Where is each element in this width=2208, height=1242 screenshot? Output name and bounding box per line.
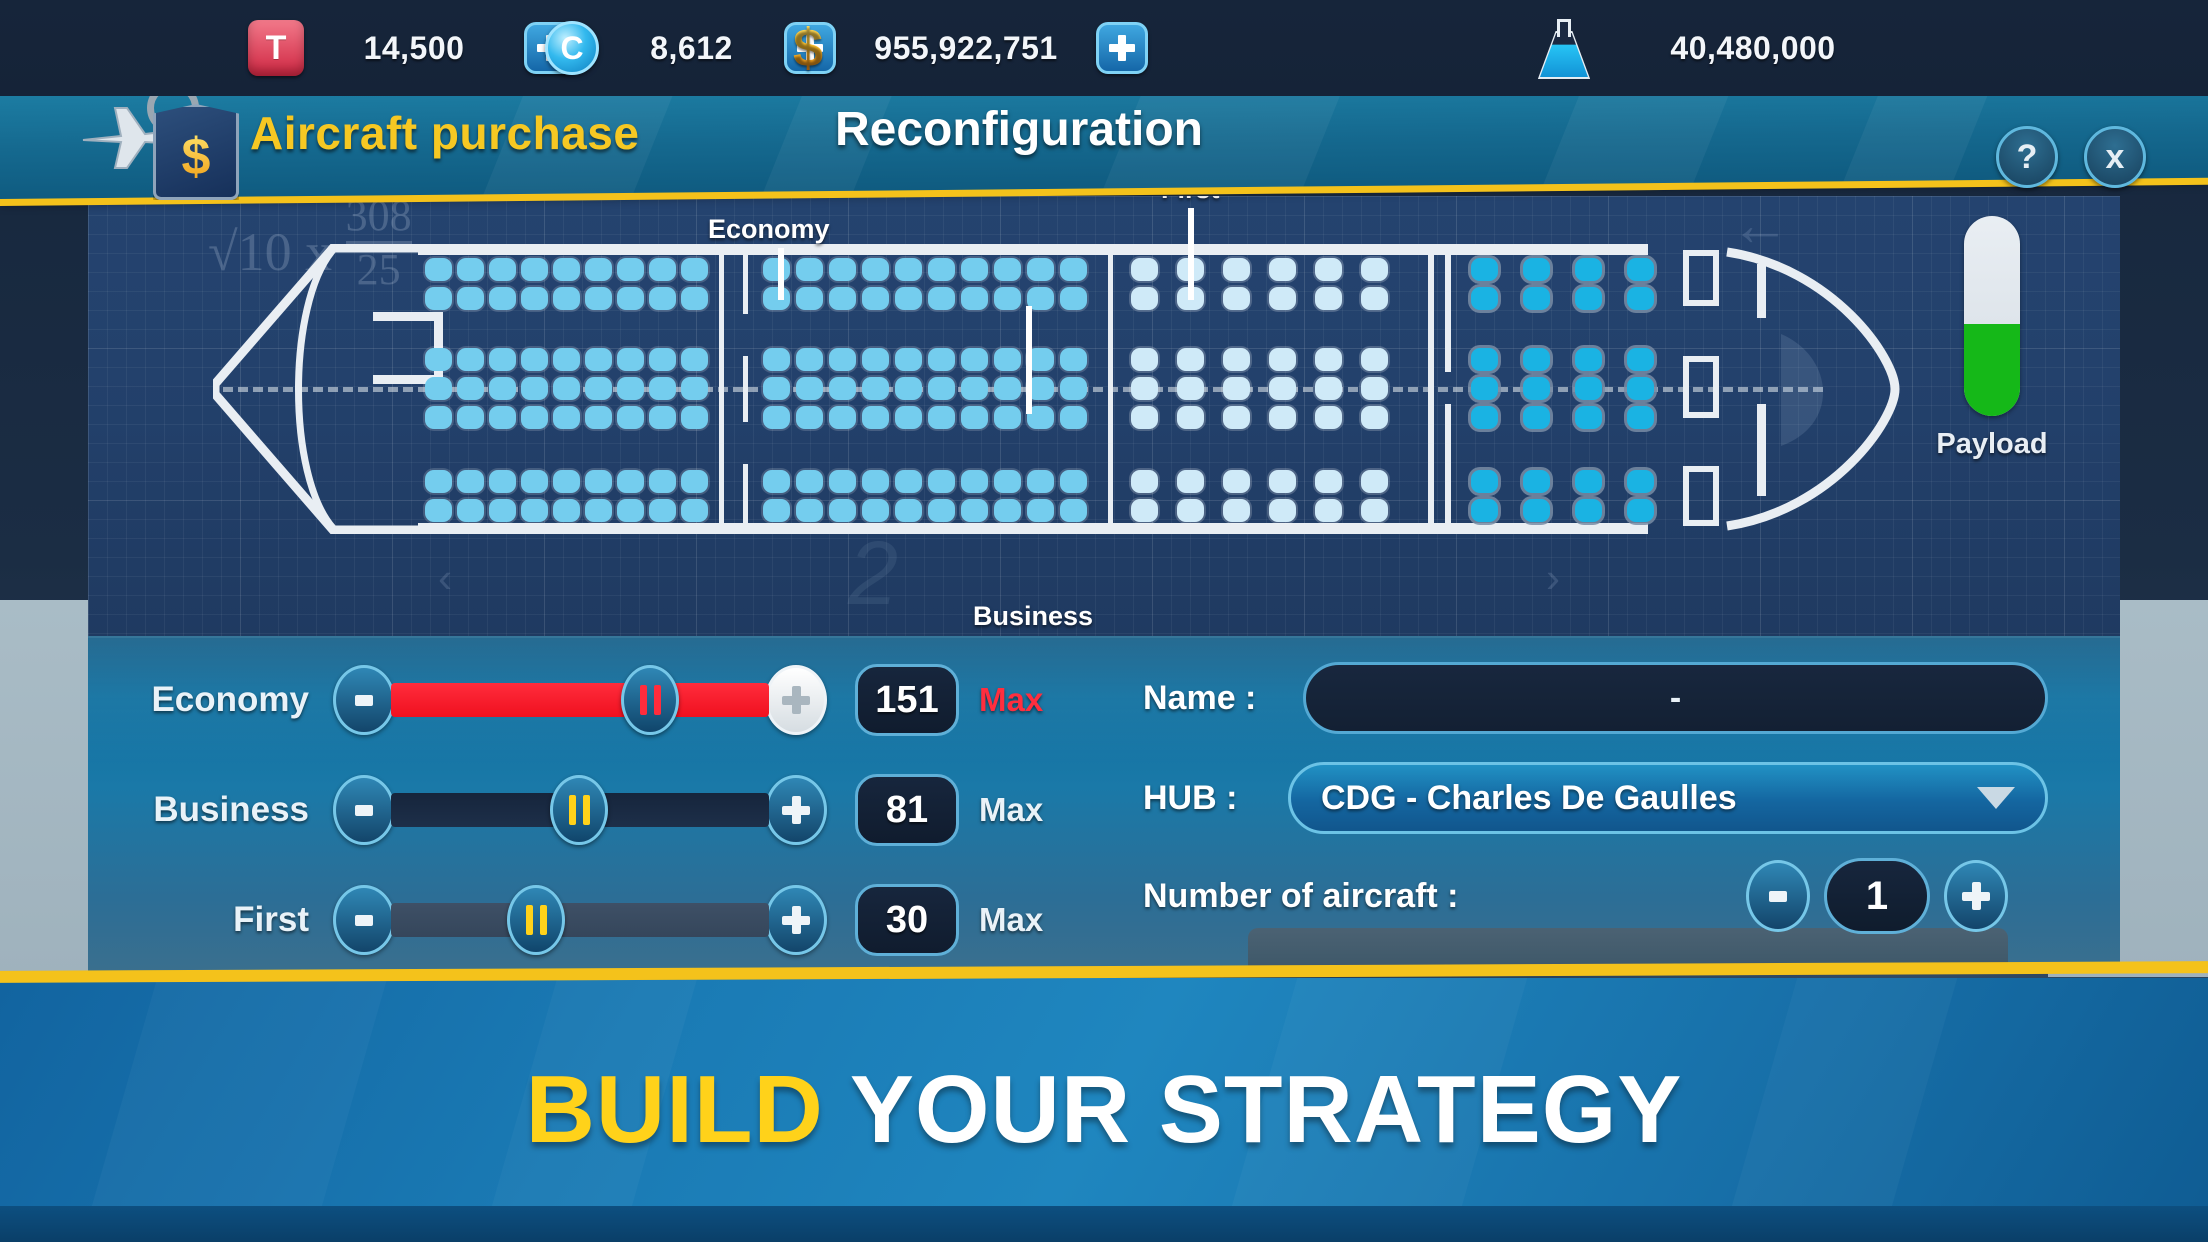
seat [457, 348, 484, 371]
seat [617, 287, 644, 310]
promo-banner: BUILD YOUR STRATEGY [0, 978, 2208, 1242]
seat [1361, 348, 1388, 371]
seat [1177, 377, 1204, 400]
seat [1060, 348, 1087, 371]
help-button[interactable]: ? [1996, 126, 2058, 188]
seat [649, 348, 676, 371]
seat [895, 348, 922, 371]
seat [1523, 258, 1550, 281]
seat [994, 470, 1021, 493]
seat [617, 377, 644, 400]
hub-selected-value: CDG - Charles De Gaulles [1321, 779, 1737, 818]
business-slider-knob[interactable] [550, 775, 608, 845]
seat [489, 287, 516, 310]
hub-label: HUB : [1143, 779, 1288, 818]
seat [617, 499, 644, 522]
slider-row-business: Business 81 Max [88, 774, 1043, 846]
seat [1177, 348, 1204, 371]
seat [1269, 406, 1296, 429]
seat [617, 406, 644, 429]
seat [1471, 377, 1498, 400]
seat [1060, 499, 1087, 522]
seat [521, 499, 548, 522]
economy-decrement-button[interactable] [333, 665, 395, 735]
seat [862, 499, 889, 522]
seat [1627, 287, 1654, 310]
seat [585, 287, 612, 310]
aircraft-count-increment-button[interactable] [1944, 860, 2008, 932]
seat [1177, 499, 1204, 522]
seat [521, 377, 548, 400]
seat [961, 348, 988, 371]
seat [585, 499, 612, 522]
seat [425, 348, 452, 371]
seat [489, 499, 516, 522]
seat [585, 470, 612, 493]
seat [1315, 258, 1342, 281]
seat [521, 258, 548, 281]
seat [585, 377, 612, 400]
seat [649, 377, 676, 400]
seat [1269, 499, 1296, 522]
economy-value: 151 [855, 664, 959, 736]
plus-icon [782, 906, 810, 934]
business-increment-button[interactable] [765, 775, 827, 845]
promo-word-rest: YOUR STRATEGY [850, 1056, 1683, 1163]
seat [1361, 287, 1388, 310]
economy-increment-button[interactable] [765, 665, 827, 735]
seat [1223, 287, 1250, 310]
header-content: Aircraft purchase Reconfiguration [0, 88, 2208, 200]
seat [829, 406, 856, 429]
business-callout-line [1026, 306, 1032, 414]
business-callout: Business [973, 601, 1093, 632]
close-button[interactable]: x [2084, 126, 2146, 188]
currency-item-dollar: $ 955,922,751 [780, 0, 1148, 96]
business-decrement-button[interactable] [333, 775, 395, 845]
seat [763, 287, 790, 310]
seat [1131, 470, 1158, 493]
seat [1060, 287, 1087, 310]
seat [425, 287, 452, 310]
seat [1027, 499, 1054, 522]
dollar-value: 955,922,751 [836, 30, 1096, 67]
dollar-glyph: $ [793, 21, 823, 75]
seat [895, 377, 922, 400]
aircraft-fuselage [213, 244, 1833, 534]
seat [961, 470, 988, 493]
seat [829, 258, 856, 281]
seat [1523, 406, 1550, 429]
seat [862, 470, 889, 493]
payload-gauge [1964, 216, 2020, 416]
seat [1269, 258, 1296, 281]
seat [796, 406, 823, 429]
seat [521, 287, 548, 310]
seat [1361, 406, 1388, 429]
seat [649, 258, 676, 281]
seat [617, 258, 644, 281]
first-decrement-button[interactable] [333, 885, 395, 955]
seat [1131, 499, 1158, 522]
seat [1575, 499, 1602, 522]
seat [681, 406, 708, 429]
slider-label-economy: Economy [88, 680, 333, 720]
seat [1627, 499, 1654, 522]
seat [425, 406, 452, 429]
seat [521, 348, 548, 371]
seat [1361, 258, 1388, 281]
seat-divider-1b [743, 254, 748, 314]
seat [553, 377, 580, 400]
seat [1471, 406, 1498, 429]
seat [1131, 377, 1158, 400]
seat [763, 348, 790, 371]
seat [928, 377, 955, 400]
seat [1361, 377, 1388, 400]
seat [425, 377, 452, 400]
coin-icon: C [545, 21, 599, 75]
seat [1131, 287, 1158, 310]
seat [1315, 499, 1342, 522]
seat [994, 499, 1021, 522]
seat [457, 258, 484, 281]
seat [1315, 348, 1342, 371]
aircraft-count-label: Number of aircraft : [1143, 877, 1459, 916]
seat [457, 377, 484, 400]
seat [862, 377, 889, 400]
seat [829, 470, 856, 493]
seat [425, 499, 452, 522]
slider-row-first: First 30 Max [88, 884, 1043, 956]
seat [1315, 377, 1342, 400]
seat [617, 470, 644, 493]
seat [1177, 470, 1204, 493]
seat [553, 287, 580, 310]
seat [425, 470, 452, 493]
seat [1523, 499, 1550, 522]
promo-bottom-strip [0, 1206, 2208, 1242]
minus-icon [355, 915, 373, 926]
seat [457, 499, 484, 522]
seat [862, 258, 889, 281]
seat [1177, 406, 1204, 429]
blueprint-watermark: 2 [848, 523, 898, 626]
seat [1060, 406, 1087, 429]
seat [1361, 470, 1388, 493]
seat [1627, 258, 1654, 281]
business-seat-zone[interactable] [1125, 244, 1425, 534]
seat [928, 258, 955, 281]
plus-icon [1962, 882, 1990, 910]
seat [829, 377, 856, 400]
seat [763, 470, 790, 493]
seat [961, 287, 988, 310]
seat [796, 499, 823, 522]
seat-divider-1d [743, 464, 748, 526]
seat [1471, 258, 1498, 281]
seat [585, 348, 612, 371]
seat [1315, 406, 1342, 429]
seat [895, 258, 922, 281]
seat [1627, 377, 1654, 400]
seat [1627, 470, 1654, 493]
seat [928, 287, 955, 310]
seat [1361, 499, 1388, 522]
seat [1027, 470, 1054, 493]
page-title-center-text: Reconfiguration [835, 103, 1203, 156]
aircraft-name-input[interactable]: - [1303, 662, 2048, 734]
chevron-down-icon [1977, 787, 2015, 809]
aircraft-count-row: Number of aircraft : 1 [1143, 858, 2008, 934]
first-slider-track[interactable] [391, 903, 769, 937]
first-callout-line [1188, 208, 1194, 300]
payload-gauge-fill [1964, 324, 2020, 416]
name-label: Name : [1143, 679, 1303, 718]
seat [1575, 470, 1602, 493]
tshirt-token-value: 14,500 [304, 30, 524, 67]
seat-divider-1 [719, 248, 724, 530]
seat [1269, 470, 1296, 493]
seat [961, 377, 988, 400]
add-dollar-button[interactable] [1096, 22, 1148, 74]
tshirt-token-glyph: T [266, 31, 287, 65]
seat [763, 406, 790, 429]
business-value: 81 [855, 774, 959, 846]
seat [763, 499, 790, 522]
seat [1627, 348, 1654, 371]
hub-row: HUB : CDG - Charles De Gaulles [1143, 762, 2048, 834]
business-max-badge: Max [979, 791, 1043, 829]
seat [1575, 287, 1602, 310]
seat [1269, 287, 1296, 310]
blueprint-arrow-right-icon: › [1546, 554, 1560, 602]
seat [1315, 287, 1342, 310]
seat [1575, 377, 1602, 400]
game-screen: T 14,500 C 8,612 $ 955,922,751 40,480,00… [0, 0, 2208, 1242]
seat [796, 287, 823, 310]
price-tag-icon: $ [153, 104, 239, 200]
tail-outline [1723, 238, 1903, 540]
promo-word-highlight: BUILD [526, 1056, 824, 1163]
seat [681, 348, 708, 371]
slider-label-first: First [88, 900, 333, 940]
minus-icon [355, 805, 373, 816]
seat [829, 287, 856, 310]
seat [489, 348, 516, 371]
seat [1131, 258, 1158, 281]
seat [1060, 377, 1087, 400]
seat [457, 287, 484, 310]
economy-slider-track[interactable] [391, 683, 769, 717]
galley-1 [1683, 250, 1719, 306]
name-row: Name : - [1143, 662, 2048, 734]
seat [649, 470, 676, 493]
seat [457, 470, 484, 493]
seat [1027, 258, 1054, 281]
seat [489, 406, 516, 429]
plus-icon [782, 686, 810, 714]
seat [1223, 499, 1250, 522]
aircraft-count-decrement-button[interactable] [1746, 860, 1810, 932]
seat [649, 287, 676, 310]
galley-2 [1683, 356, 1719, 418]
seat [489, 377, 516, 400]
first-bulkhead-b [1445, 404, 1451, 526]
seat [862, 287, 889, 310]
seat [961, 499, 988, 522]
business-bulkhead [1428, 244, 1434, 534]
seat [489, 470, 516, 493]
seat [681, 258, 708, 281]
tshirt-token-icon: T [248, 20, 304, 76]
seat [425, 258, 452, 281]
seat [796, 258, 823, 281]
seat [553, 406, 580, 429]
currency-item-tshirt: T 14,500 [248, 0, 576, 96]
seat [457, 406, 484, 429]
coin-value: 8,612 [599, 30, 784, 67]
first-slider-knob[interactable] [507, 885, 565, 955]
research-flask-icon [1540, 19, 1588, 77]
seat [994, 287, 1021, 310]
seat [1471, 287, 1498, 310]
seat [994, 258, 1021, 281]
slider-label-business: Business [88, 790, 333, 830]
coin-glyph: C [560, 32, 583, 64]
configuration-panel: Economy 151 Max Business 81 Max First [88, 636, 2120, 972]
seat [585, 258, 612, 281]
seat [895, 499, 922, 522]
seat [928, 348, 955, 371]
seat [585, 406, 612, 429]
seat [1131, 406, 1158, 429]
seat [928, 499, 955, 522]
first-value: 30 [855, 884, 959, 956]
seat [1269, 348, 1296, 371]
seat [489, 258, 516, 281]
seat [1523, 377, 1550, 400]
first-max-badge: Max [979, 901, 1043, 939]
hub-select[interactable]: CDG - Charles De Gaulles [1288, 762, 2048, 834]
seat [961, 258, 988, 281]
seat [895, 470, 922, 493]
economy-callout-line [778, 248, 784, 300]
seat [521, 406, 548, 429]
seat [1315, 470, 1342, 493]
seat [1523, 287, 1550, 310]
seat [681, 499, 708, 522]
seat [862, 406, 889, 429]
seat [649, 406, 676, 429]
seat [895, 406, 922, 429]
seat [796, 348, 823, 371]
seat [649, 499, 676, 522]
seat [1269, 377, 1296, 400]
seat [1223, 406, 1250, 429]
seat [1223, 348, 1250, 371]
seat [553, 258, 580, 281]
economy-max-badge: Max [979, 681, 1043, 719]
seat [763, 258, 790, 281]
cabin-blueprint[interactable]: √10 x 308 25 ‹ › ← 2 [88, 196, 2120, 636]
blueprint-arrow-left-icon: ‹ [438, 554, 452, 602]
payload-gauge-group: Payload [1932, 216, 2052, 461]
seat [1223, 377, 1250, 400]
aircraft-count-value: 1 [1824, 858, 1930, 934]
seat [994, 348, 1021, 371]
seat [928, 406, 955, 429]
seat [1523, 470, 1550, 493]
seat [895, 287, 922, 310]
seat [553, 348, 580, 371]
first-bulkhead-a [1445, 252, 1451, 372]
seat [521, 470, 548, 493]
slider-row-economy: Economy 151 Max [88, 664, 1043, 736]
economy-slider-knob[interactable] [621, 665, 679, 735]
seat [553, 470, 580, 493]
seat [862, 348, 889, 371]
dollar-icon: $ [780, 19, 836, 77]
seat [763, 377, 790, 400]
seat [1575, 406, 1602, 429]
seat [928, 470, 955, 493]
seat [796, 470, 823, 493]
seat [681, 287, 708, 310]
seat [994, 406, 1021, 429]
first-increment-button[interactable] [765, 885, 827, 955]
first-seat-zone[interactable] [1461, 244, 1691, 534]
seat [681, 377, 708, 400]
seat [1471, 470, 1498, 493]
page-title-center: Reconfiguration [0, 102, 2208, 157]
seat [681, 470, 708, 493]
seat [1575, 348, 1602, 371]
minus-icon [1769, 891, 1787, 902]
seat [1627, 406, 1654, 429]
promo-text: BUILD YOUR STRATEGY [526, 1055, 1683, 1165]
galley-3 [1683, 466, 1719, 526]
economy-seat-zone-a[interactable] [425, 244, 715, 534]
seat-divider-2 [1108, 250, 1113, 526]
seat [796, 377, 823, 400]
seat [1523, 348, 1550, 371]
seat [994, 377, 1021, 400]
seat [1060, 470, 1087, 493]
economy-callout: Economy [708, 214, 830, 245]
seat [1060, 258, 1087, 281]
seat [961, 406, 988, 429]
seat-divider-1c [743, 356, 748, 422]
currency-item-research: 40,480,000 [1540, 0, 1918, 96]
minus-icon [355, 695, 373, 706]
plus-icon [782, 796, 810, 824]
aircraft-price-tag-icon: $ [75, 82, 265, 202]
seat [1223, 470, 1250, 493]
seat [553, 499, 580, 522]
seat [1131, 348, 1158, 371]
payload-label: Payload [1932, 428, 2052, 461]
seat [1223, 258, 1250, 281]
economy-seat-zone-b[interactable] [761, 244, 1101, 534]
seat [617, 348, 644, 371]
scribble-numerator: 308 [346, 196, 412, 244]
plus-icon [1109, 35, 1135, 61]
seat [1575, 258, 1602, 281]
research-value: 40,480,000 [1588, 30, 1918, 67]
seat [829, 499, 856, 522]
seat [829, 348, 856, 371]
